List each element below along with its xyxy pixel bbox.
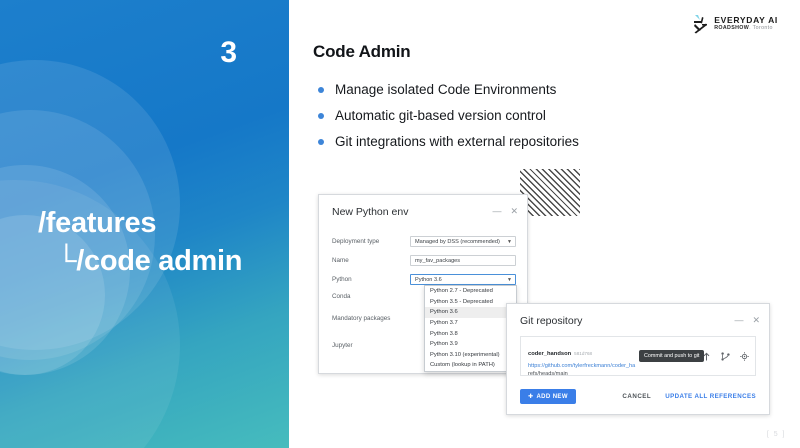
bullet-list: Manage isolated Code Environments Automa…: [315, 80, 745, 158]
list-item-label: Manage isolated Code Environments: [335, 80, 556, 99]
form-row-deployment-type: Deployment type Managed by DSS (recommen…: [332, 236, 516, 247]
update-all-references-button[interactable]: UPDATE ALL REFERENCES: [665, 393, 756, 400]
section-subtitle: /code admin: [76, 245, 242, 277]
deployment-type-select[interactable]: Managed by DSS (recommended) ▼: [410, 236, 516, 247]
env-name-input[interactable]: my_fav_packages: [410, 255, 516, 266]
bullet-dot-icon: [318, 87, 324, 93]
dropdown-option[interactable]: Python 3.10 (experimental): [425, 350, 516, 361]
minimize-icon[interactable]: —: [492, 207, 501, 216]
dropdown-option[interactable]: Python 3.9: [425, 339, 516, 350]
repository-commit-hash: 581d768: [574, 351, 592, 356]
git-repository-dialog: Git repository — ✕ coder_handson581d768 …: [506, 303, 770, 415]
field-label: Deployment type: [332, 238, 410, 245]
footer-right-actions: CANCEL UPDATE ALL REFERENCES: [622, 393, 756, 400]
commit-push-tooltip: Commit and push to git: [639, 350, 704, 362]
list-item-label: Automatic git-based version control: [335, 106, 546, 125]
dropdown-option[interactable]: Custom (lookup in PATH): [425, 360, 516, 371]
add-new-label: ADD NEW: [536, 394, 567, 400]
starburst-icon: [693, 14, 709, 34]
hatch-decoration: [520, 169, 580, 216]
repository-name: coder_handson: [528, 351, 571, 357]
dialog-title: New Python env: [332, 206, 408, 218]
field-label: Jupyter: [332, 342, 410, 349]
corner-glyph: └: [56, 245, 76, 277]
field-label: Conda: [332, 293, 410, 300]
window-controls: — ✕: [734, 316, 760, 325]
field-label: Python: [332, 276, 410, 283]
window-controls: — ✕: [492, 207, 518, 216]
field-label: Name: [332, 257, 410, 264]
dropdown-option[interactable]: Python 3.7: [425, 318, 516, 329]
close-icon[interactable]: ✕: [510, 207, 518, 216]
deployment-type-value: Managed by DSS (recommended): [415, 239, 500, 245]
add-new-button[interactable]: ✚ ADD NEW: [520, 389, 576, 404]
section-title: /features └/code admin: [38, 204, 242, 281]
dropdown-option[interactable]: Python 3.5 - Deprecated: [425, 297, 516, 308]
cancel-button[interactable]: CANCEL: [622, 393, 651, 400]
form-row-name: Name my_fav_packages: [332, 255, 516, 266]
logo-city: . Toronto: [749, 25, 773, 31]
env-name-value: my_fav_packages: [410, 255, 516, 266]
dialog-title: Git repository: [520, 315, 582, 327]
repository-card: coder_handson581d768 https://github.com/…: [520, 336, 756, 376]
slide-number: 3: [220, 38, 237, 68]
dropdown-option-selected[interactable]: Python 3.6: [425, 307, 516, 318]
page-title: Code Admin: [313, 42, 410, 62]
bullet-dot-icon: [318, 113, 324, 119]
new-python-env-dialog: New Python env — ✕ Deployment type Manag…: [318, 194, 528, 374]
plus-icon: ✚: [528, 393, 533, 400]
branch-icon[interactable]: [720, 351, 730, 361]
minimize-icon[interactable]: —: [734, 316, 743, 325]
list-item: Manage isolated Code Environments: [315, 80, 745, 99]
dropdown-option[interactable]: Python 2.7 - Deprecated: [425, 286, 516, 297]
left-gradient-panel: 3 /features └/code admin: [0, 0, 289, 448]
section-title-line2: └/code admin: [38, 242, 242, 280]
python-version-dropdown[interactable]: Python 2.7 - Deprecated Python 3.5 - Dep…: [424, 285, 517, 372]
logo-text: EVERYDAY AI ROADSHOW. Toronto: [714, 16, 778, 31]
python-version-select[interactable]: Python 3.6 ▼: [410, 274, 516, 285]
close-icon[interactable]: ✕: [752, 316, 760, 325]
list-item: Automatic git-based version control: [315, 106, 745, 125]
repository-ref: refs/heads/main: [528, 371, 748, 377]
repository-url[interactable]: https://github.com/tylerfreckmann/coder_…: [528, 363, 748, 369]
field-label: Mandatory packages: [332, 315, 410, 322]
chevron-down-icon: ▼: [507, 277, 512, 283]
git-dialog-footer: ✚ ADD NEW CANCEL UPDATE ALL REFERENCES: [520, 389, 756, 404]
list-item-label: Git integrations with external repositor…: [335, 132, 579, 151]
bullet-dot-icon: [318, 139, 324, 145]
logo-roadshow: ROADSHOW: [714, 25, 749, 31]
python-version-value: Python 3.6: [415, 277, 442, 283]
form-row-python: Python Python 3.6 ▼: [332, 274, 516, 285]
list-item: Git integrations with external repositor…: [315, 132, 745, 151]
settings-icon[interactable]: [739, 351, 749, 361]
logo-line-2: ROADSHOW. Toronto: [714, 26, 778, 31]
page-number: [ 5 ]: [767, 431, 786, 438]
chevron-down-icon: ▼: [507, 239, 512, 245]
slide: 3 /features └/code admin EVERYDAY AI ROA…: [0, 0, 800, 448]
section-title-line1: /features: [38, 207, 156, 239]
dropdown-option[interactable]: Python 3.8: [425, 328, 516, 339]
brand-logo: EVERYDAY AI ROADSHOW. Toronto: [693, 14, 778, 34]
logo-line-1: EVERYDAY AI: [714, 16, 778, 25]
